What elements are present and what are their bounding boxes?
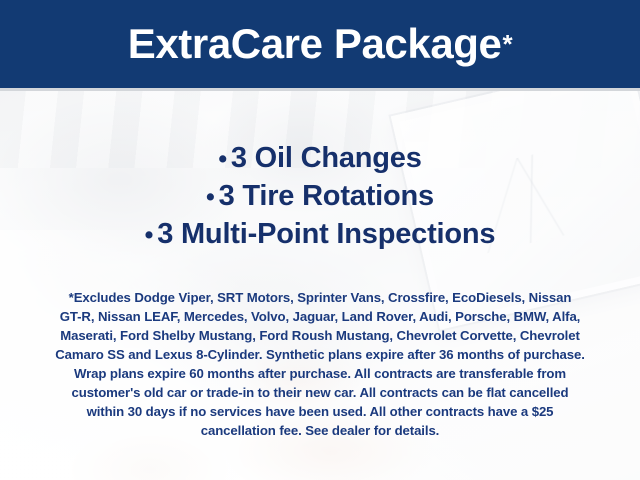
extracare-package-promo: ExtraCare Package* •3 Oil Changes •3 Tir…: [0, 0, 640, 480]
disclaimer-line: *Excludes Dodge Viper, SRT Motors, Sprin…: [28, 288, 612, 307]
bullet-icon: •: [206, 183, 215, 211]
bullet-icon: •: [218, 145, 227, 173]
benefit-item: •3 Multi-Point Inspections: [0, 216, 640, 254]
benefit-item-label: 3 Oil Changes: [231, 142, 422, 174]
disclaimer-line: customer's old car or trade-in to their …: [28, 383, 612, 402]
benefit-item: •3 Tire Rotations: [0, 178, 640, 216]
disclaimer-line: within 30 days if no services have been …: [28, 402, 612, 421]
benefit-item-label: 3 Multi-Point Inspections: [157, 218, 495, 250]
bullet-icon: •: [145, 221, 154, 249]
benefit-item: •3 Oil Changes: [0, 140, 640, 178]
page-title: ExtraCare Package*: [0, 0, 640, 88]
disclaimer-line: Maserati, Ford Shelby Mustang, Ford Rous…: [28, 326, 612, 345]
disclaimer-text: *Excludes Dodge Viper, SRT Motors, Sprin…: [28, 288, 612, 440]
disclaimer-line: Wrap plans expire 60 months after purcha…: [28, 364, 612, 383]
disclaimer-line: GT-R, Nissan LEAF, Mercedes, Volvo, Jagu…: [28, 307, 612, 326]
page-title-text: ExtraCare Package: [128, 20, 502, 68]
benefit-item-label: 3 Tire Rotations: [219, 180, 434, 212]
disclaimer-line: cancellation fee. See dealer for details…: [28, 421, 612, 440]
benefits-list: •3 Oil Changes •3 Tire Rotations •3 Mult…: [0, 140, 640, 254]
header-divider-rule: [0, 88, 640, 91]
disclaimer-line: Camaro SS and Lexus 8-Cylinder. Syntheti…: [28, 345, 612, 364]
